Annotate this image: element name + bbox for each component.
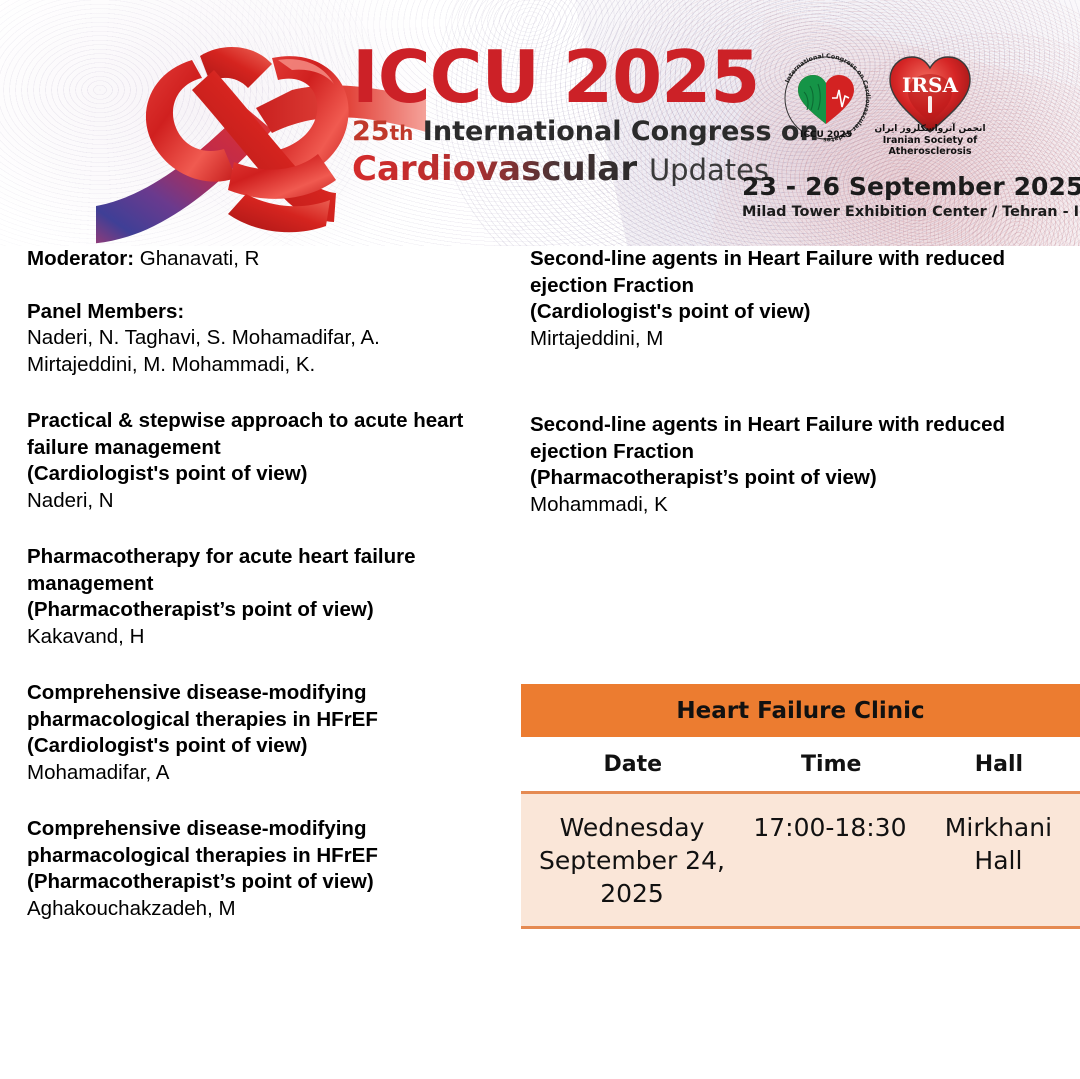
cell-date: Wednesday September 24, 2025 — [521, 794, 743, 926]
column-header-hall: Hall — [918, 737, 1080, 791]
congress-ordinal: 25th — [352, 116, 413, 147]
irsa-emblem-caption: انجمن آترواسکلروز ایران Iranian Society … — [872, 124, 988, 157]
panel-members-line-2: Mirtajeddini, M. Mohammadi, K. — [27, 353, 315, 376]
congress-subtitle-line2: Cardiovascular Updates — [352, 149, 752, 190]
congress-header-banner: ICCU 2025 25th International Congress on… — [0, 0, 1080, 246]
talk-speaker: Mohammadi, K — [530, 492, 1070, 519]
clinic-table-banner: Heart Failure Clinic — [521, 684, 1080, 737]
talk-title: Second-line agents in Heart Failure with… — [530, 412, 1070, 492]
cell-hall: Mirkhani Hall — [917, 794, 1080, 926]
talk-title: Comprehensive disease-modifying pharmaco… — [27, 680, 487, 760]
spacer — [27, 378, 487, 408]
moderator-line: Moderator: Ghanavati, R — [27, 246, 487, 273]
event-meta: 23 - 26 September 2025 Milad Tower Exhib… — [742, 172, 1072, 220]
talk-item: Comprehensive disease-modifying pharmaco… — [27, 816, 487, 922]
iccu-congress-emblem: International Congress on Cardiovascular… — [780, 52, 872, 152]
congress-subtitle-line1: 25th International Congress on — [352, 116, 752, 149]
irsa-caption-line1: Iranian Society of — [883, 135, 978, 146]
moderator-label: Moderator: — [27, 247, 134, 270]
emblem-group: International Congress on Cardiovascular… — [780, 52, 990, 192]
column-header-date: Date — [521, 737, 745, 791]
irsa-caption-farsi: انجمن آترواسکلروز ایران — [872, 124, 988, 135]
event-dates: 23 - 26 September 2025 — [742, 172, 1072, 201]
congress-international-text: International Congress on — [423, 116, 819, 147]
program-left-column: Moderator: Ghanavati, R Panel Members: N… — [27, 246, 487, 922]
program-right-column: Second-line agents in Heart Failure with… — [530, 246, 1070, 518]
spacer — [27, 273, 487, 299]
talk-title: Second-line agents in Heart Failure with… — [530, 246, 1070, 326]
talk-title: Comprehensive disease-modifying pharmaco… — [27, 816, 487, 896]
irsa-caption-line2: Atherosclerosis — [888, 146, 971, 157]
talk-title: Practical & stepwise approach to acute h… — [27, 408, 487, 488]
talk-item: Second-line agents in Heart Failure with… — [530, 412, 1070, 518]
talk-speaker: Aghakouchakzadeh, M — [27, 896, 487, 923]
talk-speaker: Kakavand, H — [27, 624, 487, 651]
cell-time: 17:00-18:30 — [743, 794, 917, 926]
talk-item: Practical & stepwise approach to acute h… — [27, 408, 487, 514]
congress-title-group: ICCU 2025 25th International Congress on… — [352, 40, 752, 190]
svg-text:IRSA: IRSA — [902, 73, 958, 97]
talk-title: Pharmacotherapy for acute heart failure … — [27, 544, 487, 624]
talk-speaker: Mirtajeddini, M — [530, 326, 1070, 353]
heart-failure-clinic-table: Heart Failure Clinic Date Time Hall Wedn… — [521, 684, 1080, 929]
clinic-table-header-row: Date Time Hall — [521, 737, 1080, 794]
table-row: Wednesday September 24, 2025 17:00-18:30… — [521, 794, 1080, 929]
talk-item: Second-line agents in Heart Failure with… — [530, 246, 1070, 352]
column-header-time: Time — [745, 737, 918, 791]
talk-item: Comprehensive disease-modifying pharmaco… — [27, 680, 487, 786]
panel-members-label: Panel Members: — [27, 300, 184, 323]
irsa-society-emblem: IRSA انجمن آترواسکلروز ایران Iranian Soc… — [884, 48, 976, 148]
iccu-emblem-caption: ICCU 2025 — [768, 130, 884, 141]
program-content: Moderator: Ghanavati, R Panel Members: N… — [0, 246, 1080, 1079]
moderator-name: Ghanavati, R — [140, 247, 260, 270]
panel-members-line-1: Naderi, N. Taghavi, S. Mohamadifar, A. — [27, 326, 380, 349]
talk-item: Pharmacotherapy for acute heart failure … — [27, 544, 487, 650]
talk-speaker: Mohamadifar, A — [27, 760, 487, 787]
congress-acronym: ICCU 2025 — [352, 40, 752, 114]
panel-members-block: Panel Members: Naderi, N. Taghavi, S. Mo… — [27, 299, 487, 379]
event-venue: Milad Tower Exhibition Center / Tehran -… — [742, 204, 1072, 220]
congress-cardiovascular-text: Cardiovascular — [352, 149, 637, 189]
talk-speaker: Naderi, N — [27, 488, 487, 515]
